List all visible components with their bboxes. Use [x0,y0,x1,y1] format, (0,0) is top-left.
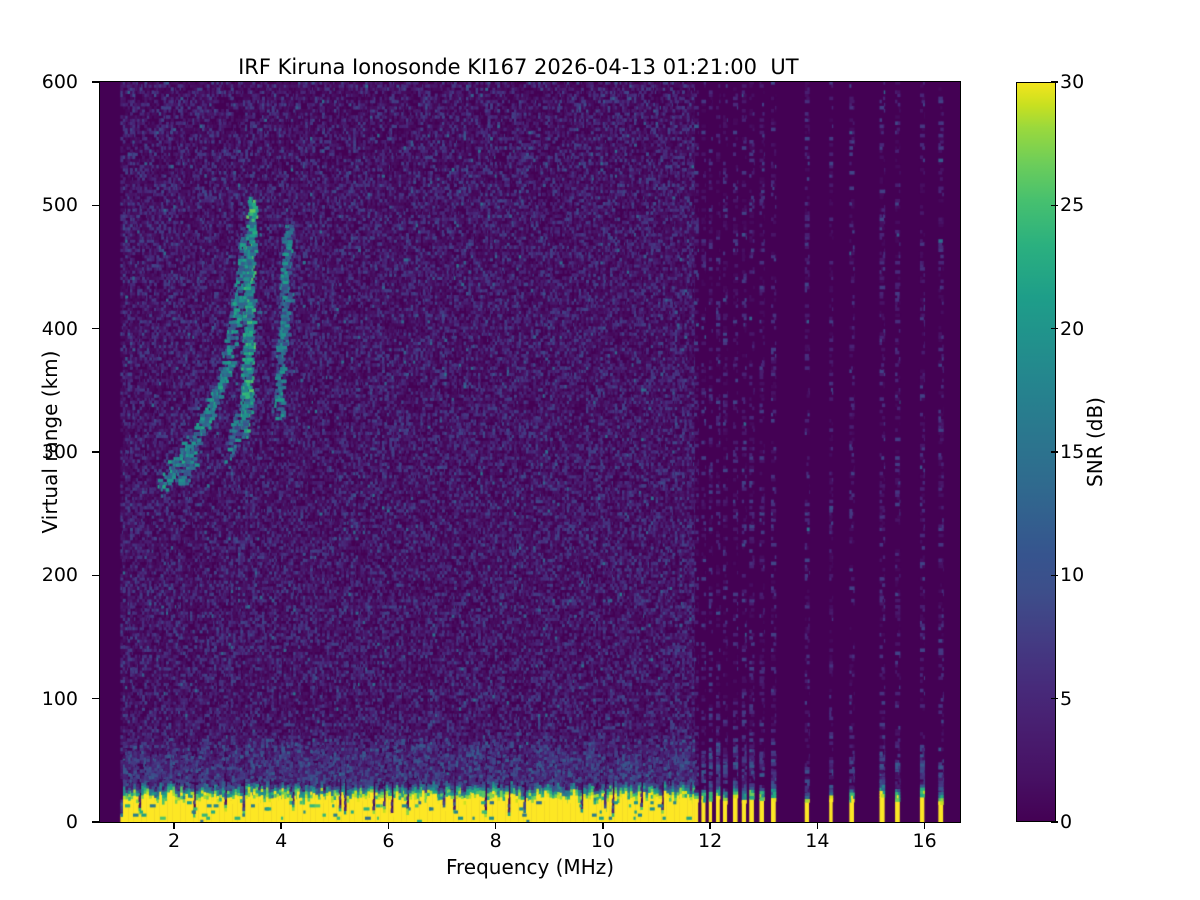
x-tick-mark [709,822,711,829]
colorbar-label: SNR (dB) [1083,312,1107,572]
y-tick-mark [92,575,99,577]
x-tick-label: 14 [777,832,857,851]
x-tick-mark [280,822,282,829]
title-line-1: IRF Kiruna Ionosonde KI167 2026-04-13 01… [238,55,798,79]
y-tick-label: 600 [0,73,78,92]
y-tick-mark [92,821,99,823]
x-tick-mark [495,822,497,829]
x-tick-mark [173,822,175,829]
x-tick-label: 2 [134,832,214,851]
x-tick-label: 6 [348,832,428,851]
x-tick-mark [817,822,819,829]
x-tick-mark [602,822,604,829]
x-tick-label: 12 [670,832,750,851]
colorbar-tick-mark [1051,451,1058,453]
colorbar[interactable] [1016,82,1056,822]
colorbar-tick-label: 15 [1060,443,1084,462]
x-axis-label: Frequency (MHz) [100,855,960,879]
colorbar-tick-label: 25 [1060,196,1084,215]
x-tick-label: 4 [241,832,321,851]
y-tick-mark [92,698,99,700]
y-axis-label: Virtual range (km) [38,232,62,652]
y-tick-label: 100 [0,690,78,709]
colorbar-tick-mark [1051,698,1058,700]
ionogram-heatmap[interactable] [100,82,960,822]
colorbar-tick-label: 30 [1060,73,1084,92]
colorbar-tick-label: 20 [1060,320,1084,339]
x-tick-mark [924,822,926,829]
y-tick-mark [92,81,99,83]
x-tick-label: 16 [885,832,965,851]
ionogram-figure: IRF Kiruna Ionosonde KI167 2026-04-13 01… [0,0,1200,900]
y-tick-mark [92,451,99,453]
colorbar-tick-label: 0 [1060,813,1072,832]
colorbar-tick-mark [1051,328,1058,330]
colorbar-tick-mark [1051,205,1058,207]
y-tick-label: 0 [0,813,78,832]
x-tick-label: 10 [563,832,643,851]
colorbar-tick-mark [1051,575,1058,577]
y-tick-mark [92,328,99,330]
y-tick-mark [92,205,99,207]
colorbar-tick-mark [1051,81,1058,83]
colorbar-tick-mark [1051,821,1058,823]
heatmap-raster [100,82,960,822]
colorbar-tick-label: 10 [1060,566,1084,585]
x-tick-label: 8 [456,832,536,851]
colorbar-tick-label: 5 [1060,690,1072,709]
y-tick-label: 500 [0,196,78,215]
x-tick-mark [388,822,390,829]
